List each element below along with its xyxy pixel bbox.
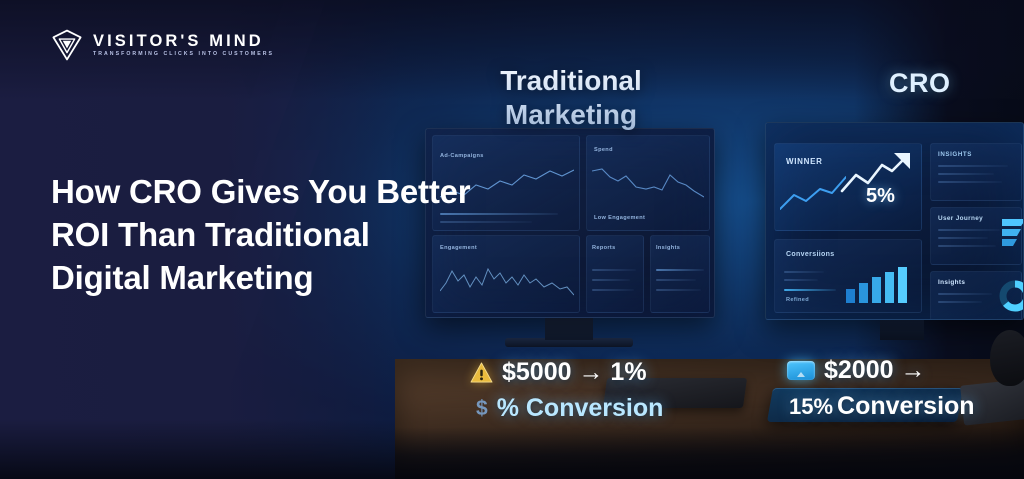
cro-stat-secondary: 15% Conversion	[789, 392, 975, 421]
cro-stat-line1: $2000 →	[824, 356, 925, 385]
cro-stat-primary: $2000 →	[787, 356, 925, 385]
warning-triangle-icon	[470, 362, 493, 383]
traditional-stat-secondary: $ % Conversion	[476, 394, 663, 423]
hero-banner: Ad-Campaigns Spend Low Engagement Engage…	[0, 0, 1024, 479]
traditional-stat-line2: % Conversion	[497, 394, 664, 423]
traditional-stat-primary: $5000 → 1%	[470, 358, 647, 387]
cro-conversion-value: 15%	[789, 394, 833, 420]
blue-badge-icon	[787, 361, 815, 380]
stats-overlay: $5000 → 1% $ % Conversion $2000 → 15% Co…	[0, 0, 1024, 479]
traditional-stat-line1: $5000 → 1%	[502, 358, 647, 387]
dollar-glyph-icon: $	[476, 397, 488, 421]
cro-conversion-label: Conversion	[837, 392, 975, 421]
